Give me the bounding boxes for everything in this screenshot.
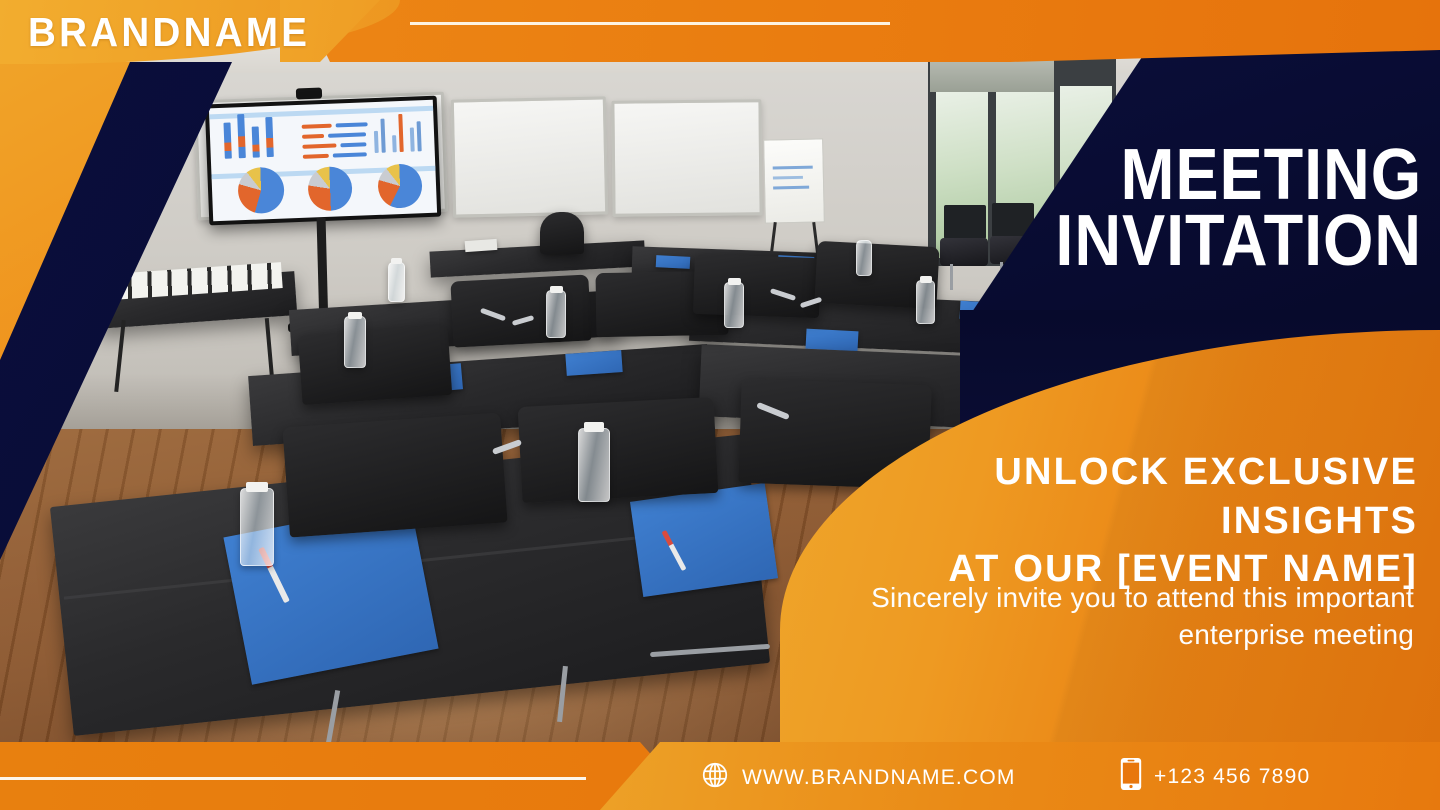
screen-camera — [296, 88, 322, 100]
footer-rule — [0, 777, 586, 780]
dashboard-chart — [209, 100, 437, 222]
water-bottle — [344, 316, 366, 368]
water-bottle — [546, 290, 566, 338]
blue-folder — [565, 350, 622, 376]
back-chair-1 — [940, 238, 988, 266]
subtitle: Sincerely invite you to attend this impo… — [794, 580, 1414, 654]
water-bottle — [724, 282, 744, 328]
meeting-invitation-poster: MEETING INVITATION UNLOCK EXCLUSIVE INSI… — [0, 0, 1440, 810]
whiteboard-right — [611, 99, 762, 217]
bottle-cap — [348, 312, 362, 319]
chair-mid — [450, 274, 591, 347]
presentation-screen — [205, 96, 441, 226]
bottle-cap — [584, 422, 604, 432]
bottle-cap — [246, 482, 268, 492]
smartphone-icon — [1120, 758, 1142, 796]
subtitle-line-2: enterprise meeting — [794, 617, 1414, 654]
bottle-cap — [728, 278, 741, 285]
title-line-invitation: INVITATION — [1044, 208, 1422, 274]
water-bottle — [856, 240, 872, 276]
water-bottle — [240, 488, 274, 566]
website-contact[interactable]: WWW.BRANDNAME.COM — [700, 760, 1016, 796]
header-rule — [410, 22, 890, 25]
brand-logo-text: BRANDNAME — [28, 9, 310, 56]
chair-mid-3 — [693, 254, 821, 318]
blue-folder — [656, 255, 691, 269]
phone-contact[interactable]: +123 456 7890 — [1120, 758, 1310, 796]
chair-leg — [950, 264, 953, 290]
subtitle-line-1: Sincerely invite you to attend this impo… — [794, 580, 1414, 617]
chair-front-left — [282, 413, 507, 538]
phone-text: +123 456 7890 — [1154, 765, 1310, 789]
chair-front-mid — [518, 397, 719, 503]
blue-folder — [806, 329, 859, 352]
website-text: WWW.BRANDNAME.COM — [742, 766, 1016, 790]
water-bottle — [388, 262, 405, 302]
headline-line-1: UNLOCK EXCLUSIVE INSIGHTS — [818, 448, 1418, 545]
headline: UNLOCK EXCLUSIVE INSIGHTS AT OUR [EVENT … — [818, 448, 1418, 594]
bottle-cap — [391, 258, 402, 264]
flipchart — [763, 138, 825, 223]
title-block: MEETING INVITATION — [1002, 142, 1422, 274]
bottle-cap — [920, 276, 932, 283]
chair-mid-left — [298, 325, 453, 405]
water-bottle — [916, 280, 935, 324]
name-card — [465, 239, 498, 252]
bottle-cap — [550, 286, 563, 293]
water-bottle — [578, 428, 610, 502]
chair-far — [540, 212, 584, 254]
whiteboard-center — [451, 96, 608, 217]
globe-icon — [700, 760, 730, 796]
title-line-meeting: MEETING — [1044, 142, 1422, 208]
blue-folder-front-right — [630, 483, 778, 597]
monitor-1 — [944, 205, 986, 239]
